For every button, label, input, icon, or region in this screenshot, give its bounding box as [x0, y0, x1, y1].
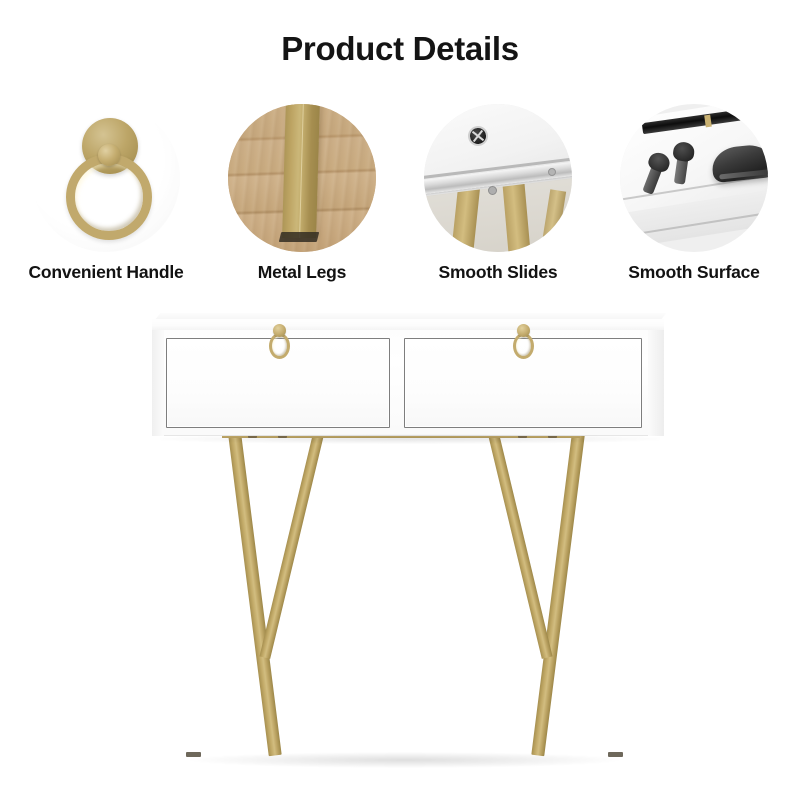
- screw-icon: [548, 168, 556, 176]
- ring-pull-closeup-icon: [32, 104, 180, 252]
- product-details-page: Product Details Convenient Handle Metal …: [0, 0, 800, 800]
- feature-label-smooth-slides: Smooth Slides: [439, 262, 558, 283]
- desk-surface-closeup-icon: [620, 104, 768, 252]
- feature-smooth-slides: Smooth Slides: [402, 104, 594, 283]
- feature-label-metal-legs: Metal Legs: [258, 262, 346, 283]
- drawer-slide-closeup-icon: [424, 104, 572, 252]
- handle-ring-icon: [66, 154, 152, 240]
- pull-rosette-icon: [517, 324, 530, 337]
- feature-label-convenient-handle: Convenient Handle: [28, 262, 183, 283]
- feature-convenient-handle: Convenient Handle: [10, 104, 202, 283]
- drawer-pull-right[interactable]: [508, 324, 538, 368]
- feature-metal-legs: Metal Legs: [206, 104, 398, 283]
- handle-knob-icon: [98, 144, 120, 166]
- floor-shadow: [190, 752, 620, 768]
- feature-label-smooth-surface: Smooth Surface: [628, 262, 759, 283]
- table-body-right-edge: [648, 330, 664, 436]
- feature-smooth-surface: Smooth Surface: [598, 104, 790, 283]
- table-leg-outer-right: [531, 432, 585, 756]
- table-leg-inner-left: [259, 433, 323, 659]
- table-body-left-edge: [152, 330, 164, 436]
- gold-leg-icon: [282, 104, 320, 238]
- page-title: Product Details: [0, 30, 800, 68]
- pull-rosette-icon: [273, 324, 286, 337]
- metal-leg-closeup-icon: [228, 104, 376, 252]
- drawer-pull-left[interactable]: [264, 324, 294, 368]
- feature-highlights-row: Convenient Handle Metal Legs: [10, 104, 790, 294]
- table-body-shadow: [160, 434, 660, 444]
- leg-foot-icon: [279, 232, 319, 242]
- table-leg-inner-right: [488, 433, 552, 659]
- console-table-product-image: [0, 300, 800, 800]
- screw-icon: [488, 186, 497, 195]
